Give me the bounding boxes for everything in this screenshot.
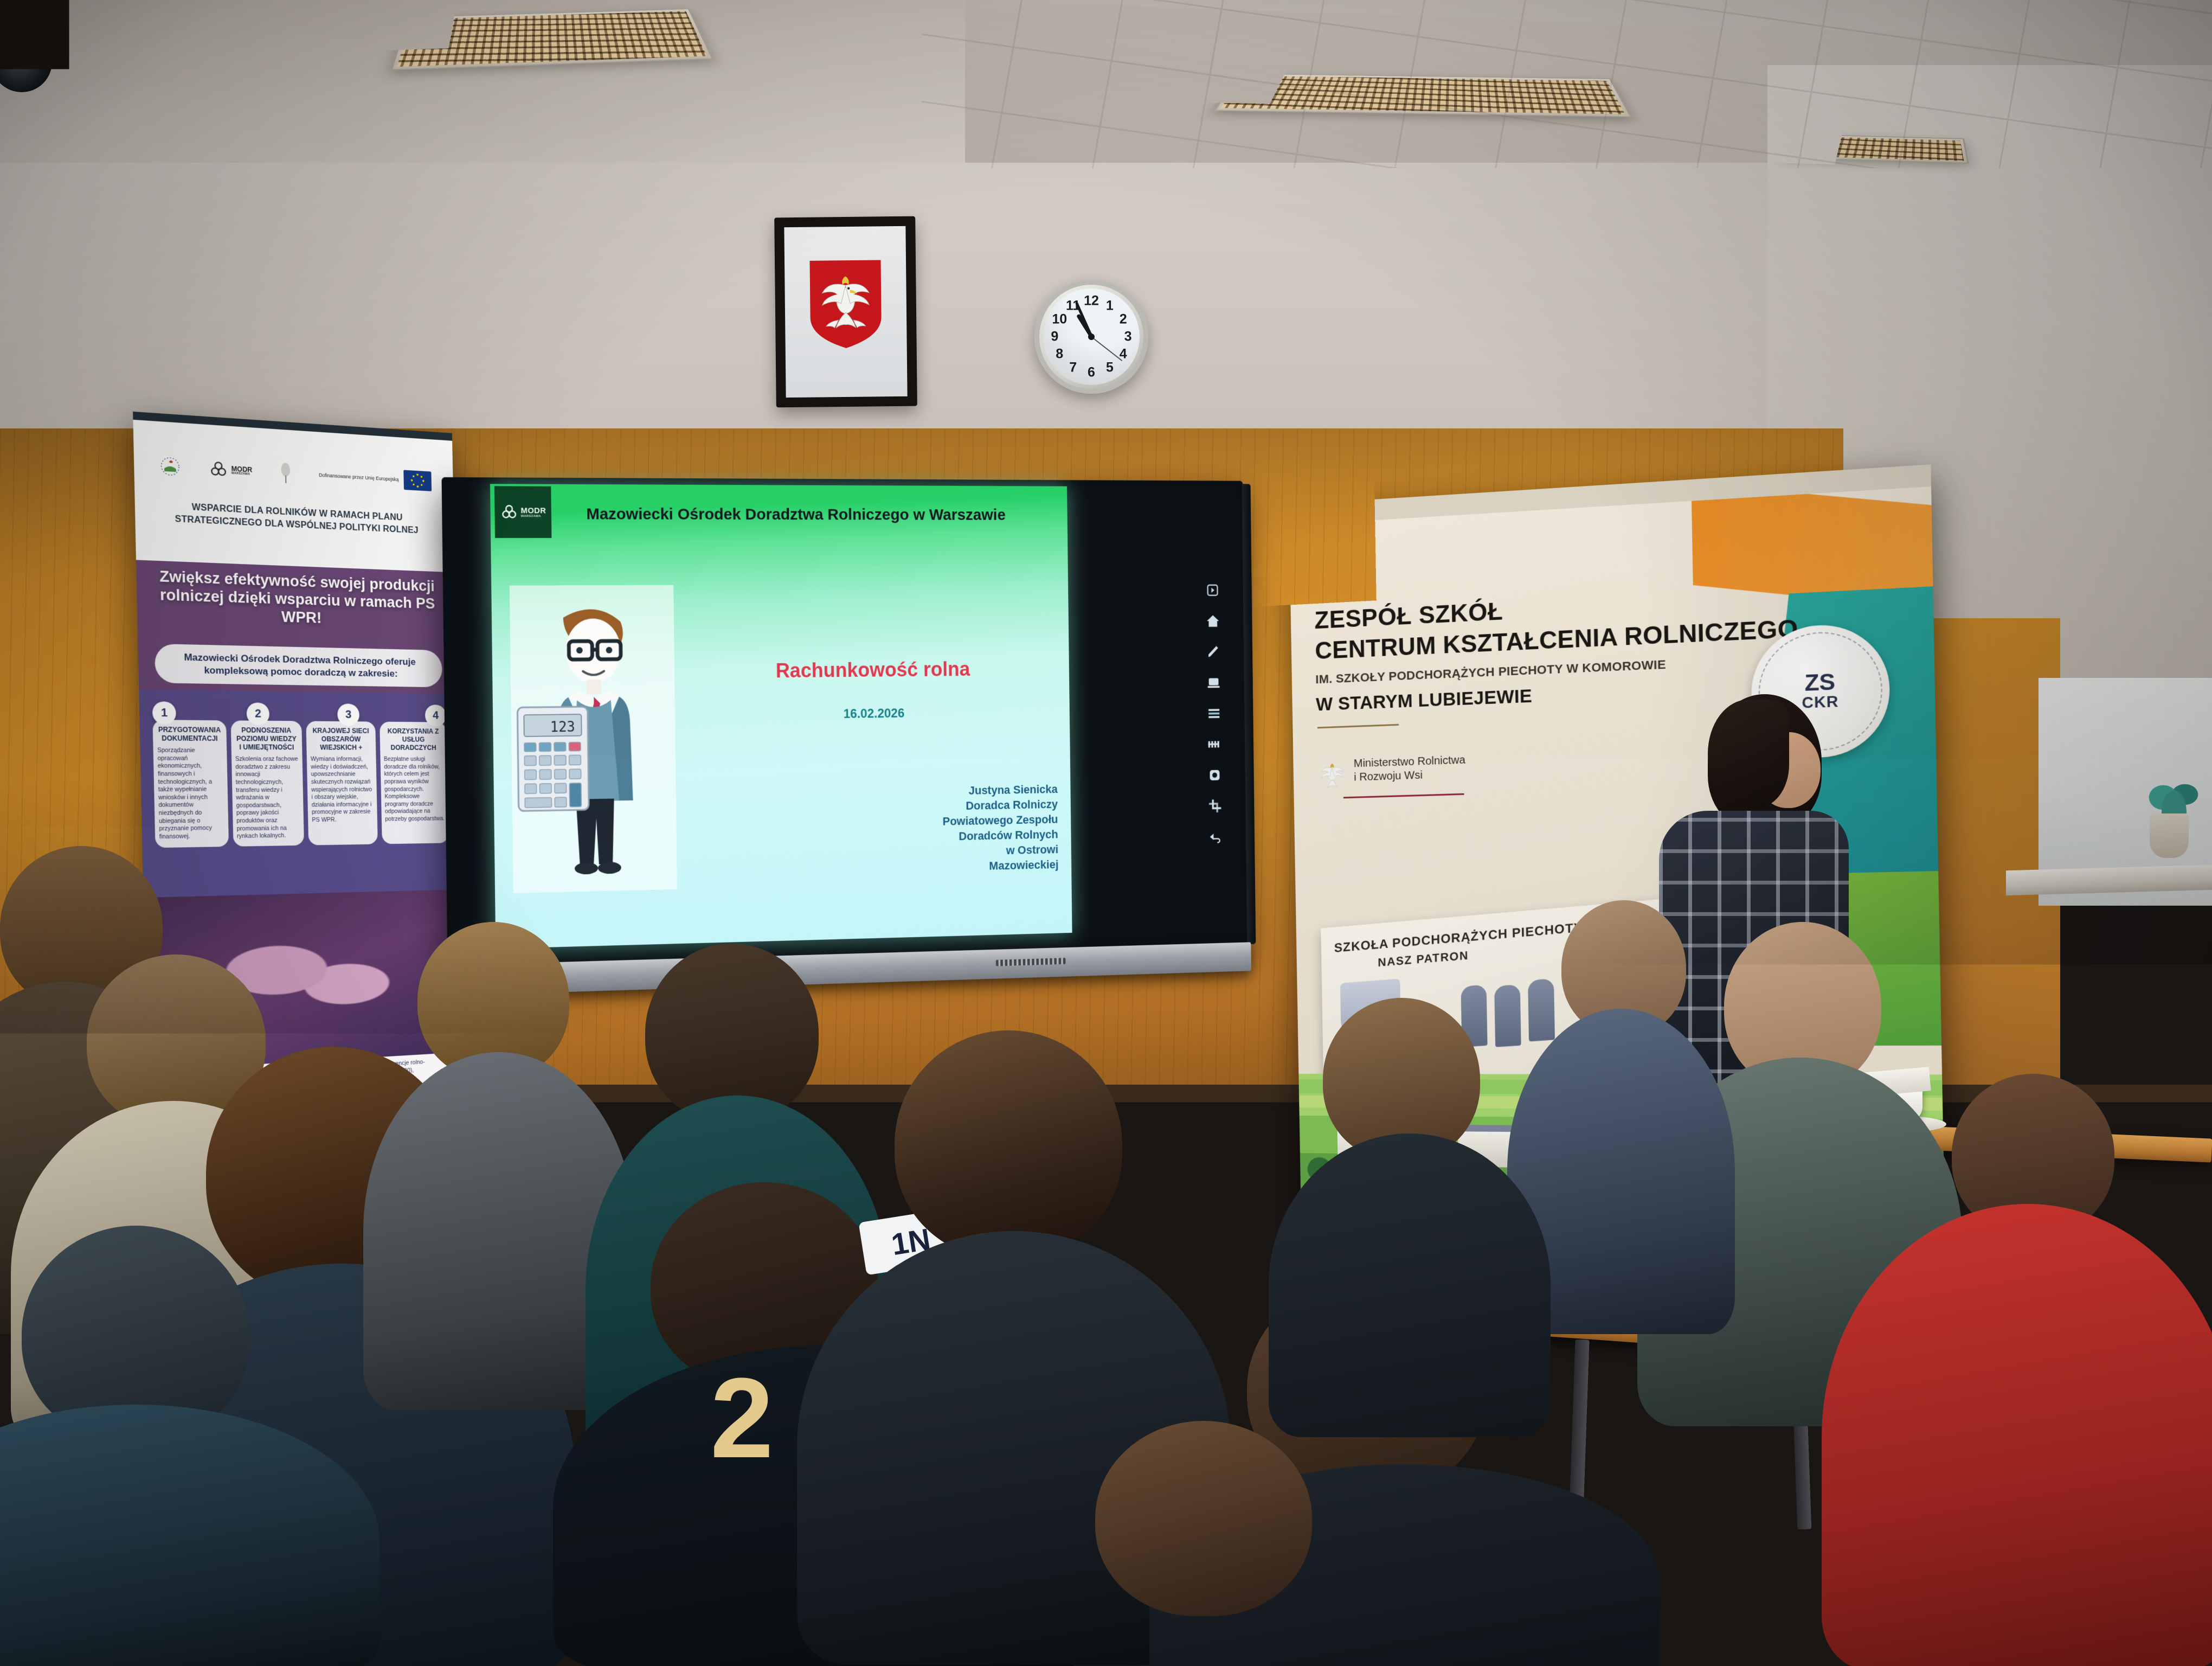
banner-hero-text: Zwiększ efektywność swojej produkcji rol… bbox=[136, 567, 456, 631]
clock-numeral: 5 bbox=[1106, 360, 1114, 375]
banner-card-title: KRAJOWEJ SIECI OBSZARÓW WIEJSKICH + bbox=[310, 727, 372, 752]
collapse-icon[interactable] bbox=[1205, 582, 1220, 598]
banner-card: PODNOSZENIA POZIOMU WIEDZY I UMIEJĘTNOŚC… bbox=[230, 720, 304, 847]
crop-icon[interactable] bbox=[1208, 798, 1223, 814]
keyboard-icon[interactable] bbox=[1207, 736, 1221, 752]
student-body bbox=[1822, 1204, 2212, 1666]
clock-center-pin bbox=[1088, 334, 1095, 340]
banner-pill-text: Mazowiecki Ośrodek Doradztwa Rolniczego … bbox=[155, 644, 442, 688]
banner-card: PRZYGOTOWANIA DOKUMENTACJI Sporządzanie … bbox=[152, 720, 228, 848]
pen-icon[interactable] bbox=[1206, 644, 1220, 660]
slide-date: 16.02.2026 bbox=[689, 704, 1055, 723]
clock-numeral: 8 bbox=[1056, 347, 1063, 362]
slide-main-title: Rachunkowość rolna bbox=[688, 658, 1054, 684]
modr-trefoil-icon bbox=[500, 503, 518, 521]
student-head bbox=[1095, 1421, 1312, 1616]
clock-numeral: 2 bbox=[1120, 311, 1127, 327]
krajowa-siec-logo bbox=[278, 462, 293, 485]
student bbox=[0, 1226, 336, 1666]
clock-numeral: 7 bbox=[1069, 360, 1077, 375]
banner-card-title: PRZYGOTOWANIA DOKUMENTACJI bbox=[157, 726, 222, 743]
clock-numeral: 1 bbox=[1106, 298, 1114, 314]
modr-name: MODR bbox=[520, 506, 546, 515]
banner-card-body: Bezpłatne usługi doradcze dla rolników, … bbox=[384, 756, 445, 824]
banner-card-row: PRZYGOTOWANIA DOKUMENTACJI Sporządzanie … bbox=[152, 720, 448, 848]
polish-eagle-icon bbox=[807, 258, 884, 350]
jersey-number: 2 bbox=[710, 1361, 774, 1475]
banner-card-body: Szkolenia oraz fachowe doradztwo z zakre… bbox=[235, 755, 300, 841]
student-body bbox=[1269, 1133, 1551, 1437]
slide-illustration: 123 bbox=[510, 585, 677, 893]
plant-pot bbox=[2150, 813, 2189, 858]
modr-wordmark: MODR WARSZAWA bbox=[520, 507, 546, 518]
cartoon-accountant-icon: 123 bbox=[510, 585, 677, 893]
eu-funding-logo: Dofinansowane przez Unię Europejską bbox=[319, 465, 432, 491]
ceiling-tile-grid bbox=[922, 0, 2212, 168]
banner-card-title: KORZYSTANIA Z USŁUG DORADCZYCH bbox=[383, 727, 443, 752]
clock-numeral: 3 bbox=[1124, 329, 1132, 345]
banner-card-title: PODNOSZENIA POZIOMU WIEDZY I UMIEJĘTNOŚC… bbox=[235, 726, 298, 752]
banner-card: KORZYSTANIA Z USŁUG DORADCZYCH Bezpłatne… bbox=[380, 722, 449, 844]
eu-programme-logo bbox=[158, 454, 182, 478]
student bbox=[380, 922, 607, 1410]
slide-org-title: Mazowiecki Ośrodek Doradztwa Rolniczego … bbox=[554, 504, 1037, 526]
clock-numeral: 12 bbox=[1084, 293, 1099, 309]
student-head bbox=[895, 1030, 1122, 1258]
undo-icon[interactable] bbox=[1208, 829, 1223, 845]
clock-numeral: 10 bbox=[1052, 311, 1067, 327]
modr-subtitle: WARSZAWA bbox=[521, 515, 546, 518]
student bbox=[1019, 1421, 1399, 1666]
clock-face: 12 1 2 3 4 5 6 7 8 9 10 11 bbox=[1043, 289, 1140, 385]
modr-logo: MODR WARSZAWA bbox=[209, 459, 253, 480]
whiteboard-icon[interactable] bbox=[1206, 675, 1221, 691]
clock-numeral: 9 bbox=[1051, 329, 1058, 345]
interactive-smartboard[interactable]: MODR WARSZAWA Mazowiecki Ośrodek Doradzt… bbox=[441, 477, 1248, 971]
student-body bbox=[0, 1405, 380, 1666]
slide-author-block: Justyna Sienicka Doradca Rolniczy Powiat… bbox=[826, 781, 1058, 877]
presentation-slide[interactable]: MODR WARSZAWA Mazowiecki Ośrodek Doradzt… bbox=[490, 484, 1072, 949]
svg-text:123: 123 bbox=[550, 719, 575, 735]
student bbox=[1290, 998, 1518, 1432]
banner-card: KRAJOWEJ SIECI OBSZARÓW WIEJSKICH + Wymi… bbox=[306, 721, 377, 845]
clock-second-hand bbox=[1091, 336, 1122, 361]
list-icon[interactable] bbox=[1207, 706, 1221, 721]
ministry-logo-block: Ministerstwo Rolnictwa i Rozwoju Wsi bbox=[1318, 753, 1466, 791]
ministry-eagle-icon bbox=[1318, 758, 1347, 791]
home-icon[interactable] bbox=[1206, 613, 1220, 629]
eu-flag-icon bbox=[403, 470, 432, 491]
student bbox=[1843, 1074, 2212, 1666]
eu-funding-text: Dofinansowane przez Unię Europejską bbox=[319, 472, 399, 482]
modr-logo-badge: MODR WARSZAWA bbox=[494, 486, 552, 538]
clock-numeral: 6 bbox=[1088, 364, 1095, 380]
classroom-scene: 12 1 2 3 4 5 6 7 8 9 10 11 M bbox=[0, 0, 2212, 1666]
banner-card-body: Sporządzanie opracowań ekonomicznych, fi… bbox=[157, 747, 224, 841]
annotate-icon[interactable] bbox=[1207, 767, 1222, 783]
ministry-line2: i Rozwoju Wsi bbox=[1354, 767, 1465, 785]
board-toolbar[interactable] bbox=[1199, 582, 1229, 845]
framed-coat-of-arms bbox=[774, 216, 917, 408]
presenter-hair-front bbox=[1708, 700, 1789, 808]
banner-card-body: Wymiana informacji, wiedzy i doświadczeń… bbox=[311, 756, 374, 825]
ministry-text: Ministerstwo Rolnictwa i Rozwoju Wsi bbox=[1354, 753, 1466, 784]
wall-clock: 12 1 2 3 4 5 6 7 8 9 10 11 bbox=[1034, 280, 1148, 394]
